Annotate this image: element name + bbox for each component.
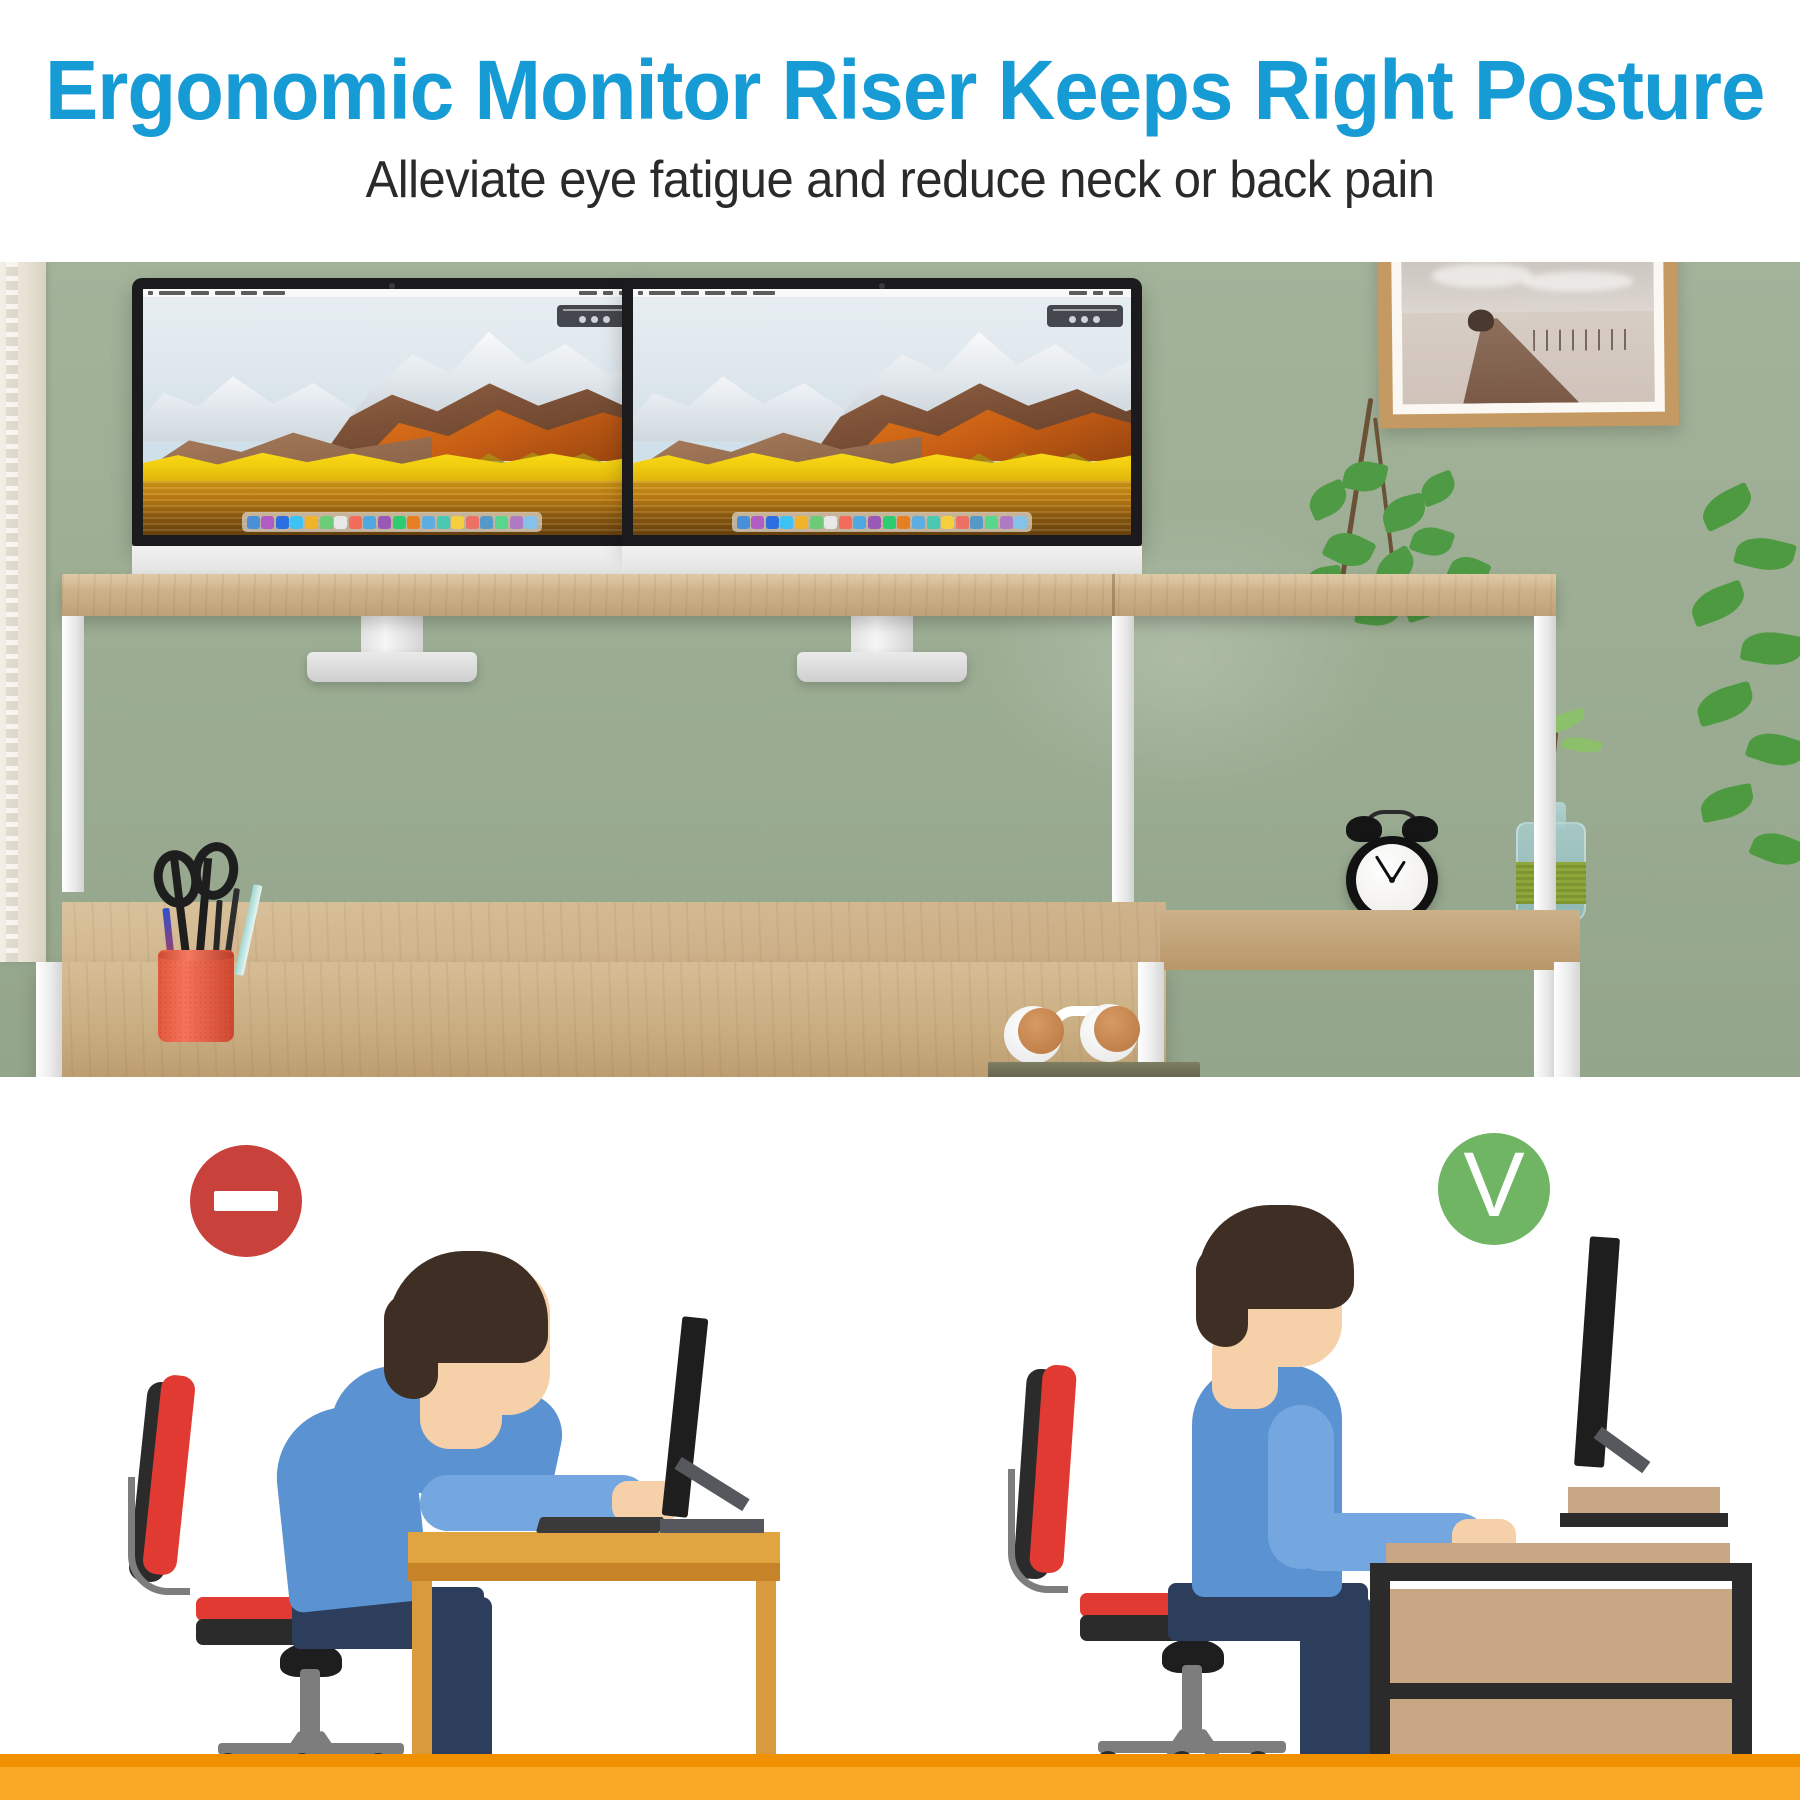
- pen-cup-rim: [158, 950, 234, 961]
- product-marketing-page: Ergonomic Monitor Riser Keeps Right Post…: [0, 0, 1800, 1800]
- desk-right-section: [1160, 910, 1580, 970]
- bad-monitor-foot: [660, 1519, 764, 1533]
- bad-desk-edge: [408, 1563, 780, 1581]
- mesh-texture: [158, 950, 234, 1042]
- monitor-left: [132, 278, 652, 598]
- page-title: Ergonomic Monitor Riser Keeps Right Post…: [45, 42, 1755, 139]
- person-good-hair-side: [1196, 1245, 1248, 1347]
- chair-frame: [128, 1477, 190, 1595]
- wood-grain: [62, 574, 1556, 616]
- good-desk-divider: [1370, 1683, 1752, 1699]
- floor-band: [0, 1754, 1800, 1800]
- headphone-earcup-right-outer: [1094, 1006, 1140, 1052]
- pen-cup: [158, 950, 234, 1042]
- approved-badge: V: [1438, 1133, 1550, 1245]
- product-photo: THRIFT EPSON: [0, 262, 1800, 1077]
- clock-face: [1356, 844, 1428, 916]
- monitor-left-bezel: [132, 278, 652, 546]
- bad-desk-top: [408, 1537, 780, 1565]
- check-v-icon: V: [1463, 1144, 1524, 1226]
- window-curtain: [0, 262, 46, 962]
- riser-leg-left: [62, 616, 84, 892]
- prohibited-badge: [190, 1145, 302, 1257]
- bad-monitor-screen: [662, 1316, 709, 1518]
- header-block: Ergonomic Monitor Riser Keeps Right Post…: [0, 0, 1800, 262]
- riser-leg-mid: [1112, 616, 1134, 906]
- minus-icon: [214, 1191, 278, 1211]
- riser-base-frame: [1560, 1513, 1728, 1527]
- macos-dock[interactable]: [242, 512, 542, 532]
- book-top: [988, 1062, 1200, 1077]
- monitor-right-screen: [633, 289, 1131, 535]
- monitor-right-bezel: [622, 278, 1142, 546]
- alarm-clock: [1344, 814, 1440, 924]
- monitor-left-screen: [143, 289, 641, 535]
- macos-menubar: [143, 289, 641, 298]
- bad-keyboard: [536, 1517, 665, 1533]
- monitor-right-foot: [797, 652, 967, 682]
- desk-leg-left: [36, 962, 62, 1077]
- macos-dock[interactable]: [732, 512, 1032, 532]
- book-stack: THRIFT: [988, 1062, 1200, 1077]
- page-subtitle: Alleviate eye fatigue and reduce neck or…: [54, 150, 1746, 210]
- clock-center-pin: [1389, 877, 1395, 883]
- riser-seam: [1112, 574, 1115, 616]
- monitor-right: [622, 278, 1142, 598]
- art-fence-posts: [1533, 329, 1634, 351]
- chair-frame-right: [1008, 1469, 1068, 1593]
- good-desk-drawer-upper: [1390, 1589, 1732, 1683]
- good-desk-top-frame: [1370, 1563, 1752, 1581]
- indoor-plant: [1300, 357, 1510, 687]
- person-bad-hair-side: [384, 1293, 438, 1399]
- headphone-earcup-left-outer: [1018, 1008, 1064, 1054]
- desktop-widget: [1047, 305, 1123, 327]
- monitor-riser-shelf: [62, 574, 1556, 616]
- riser-leg-right: [1534, 616, 1556, 1077]
- macos-menubar: [633, 289, 1131, 298]
- posture-comparison-illustration: V: [0, 1077, 1800, 1800]
- good-desk-top: [1386, 1543, 1730, 1565]
- edge-plant: [1660, 482, 1800, 932]
- desk-leg-right: [1554, 962, 1580, 1077]
- monitor-left-foot: [307, 652, 477, 682]
- art-figure: [1467, 309, 1493, 331]
